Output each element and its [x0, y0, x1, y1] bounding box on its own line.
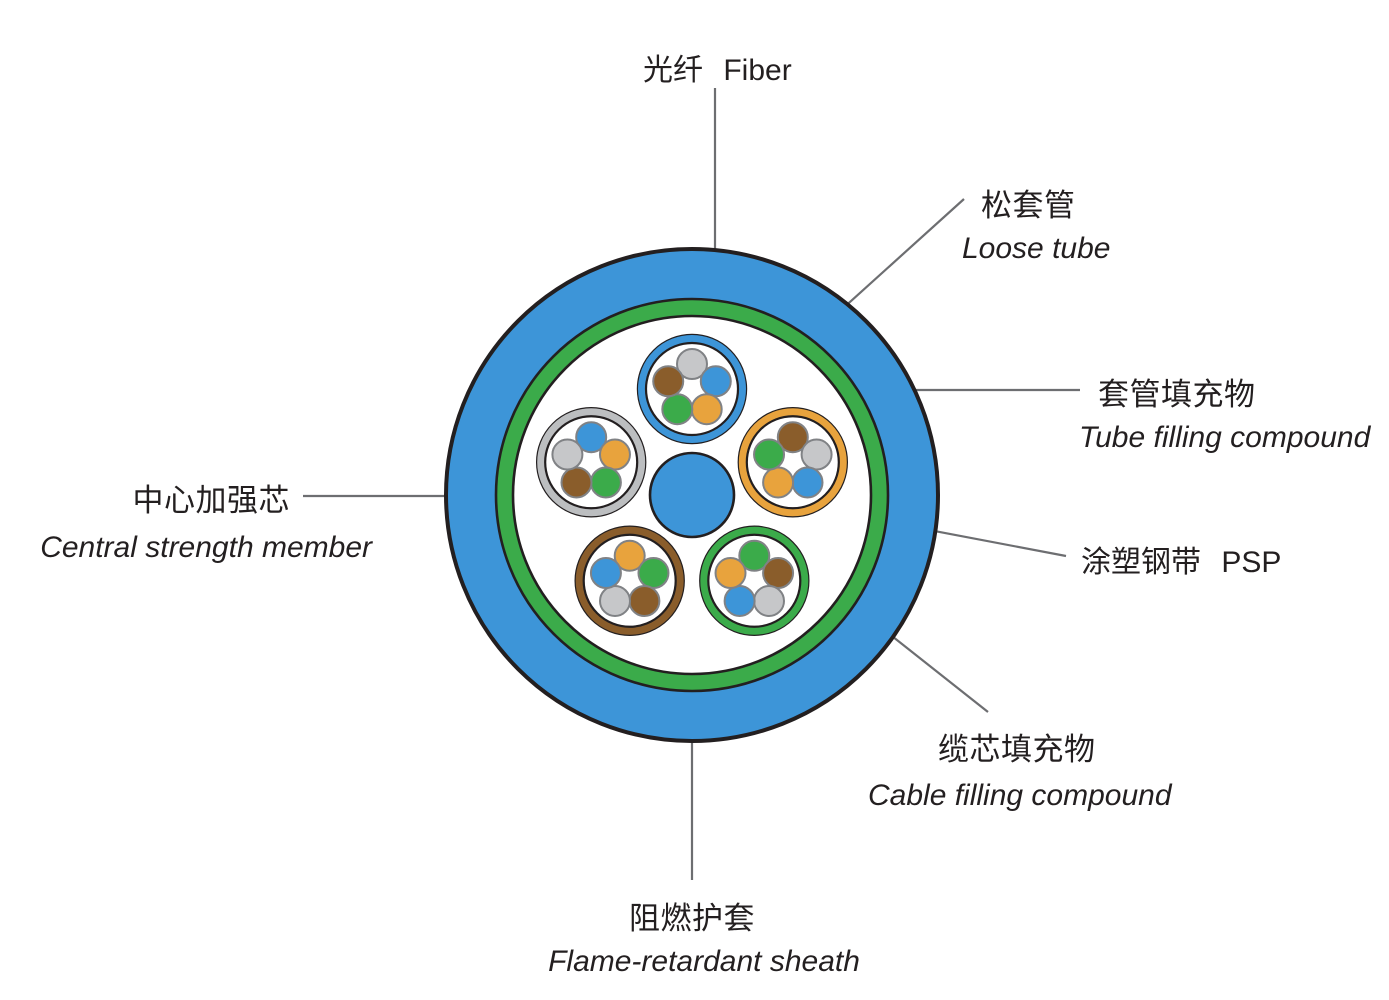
- label-loose-tube-cn: 松套管: [981, 188, 1076, 223]
- loose-tube-bottom-right-tube: [700, 527, 808, 635]
- fiber-2-3: [725, 586, 755, 616]
- fiber-4-2: [591, 467, 621, 497]
- fiber-0-1: [701, 366, 731, 396]
- label-fiber-en: Fiber: [723, 54, 791, 87]
- fiber-1-1: [802, 440, 832, 470]
- fiber-4-3: [561, 467, 591, 497]
- label-sheath: 阻燃护套 Flame-retardant sheath: [548, 901, 860, 978]
- fiber-1-3: [763, 467, 793, 497]
- fiber-2-2: [754, 586, 784, 616]
- fiber-1-4: [754, 440, 784, 470]
- loose-tube-top-tube: [638, 335, 746, 443]
- label-cable-filling-en: Cable filling compound: [868, 779, 1173, 812]
- svg-text:涂塑钢带 PSP: 涂塑钢带 PSP: [1081, 546, 1281, 579]
- label-cable-filling: 缆芯填充物 Cable filling compound: [868, 732, 1173, 812]
- label-psp: 涂塑钢带 PSP: [1081, 546, 1281, 579]
- loose-tube-bottom-left-tube: [576, 527, 684, 635]
- label-tube-filling-cn: 套管填充物: [1098, 377, 1256, 412]
- label-central-strength-en: Central strength member: [40, 531, 373, 564]
- fiber-0-4: [653, 366, 683, 396]
- loose-tube-left-tube: [537, 408, 645, 516]
- cable-body: [446, 249, 938, 741]
- fiber-4-1: [600, 440, 630, 470]
- label-central-strength-cn: 中心加强芯: [133, 483, 291, 518]
- cable-cross-section-diagram: 光纤 Fiber 松套管 Loose tube 套管填充物 Tube filli…: [0, 0, 1389, 1000]
- fiber-0-2: [692, 394, 722, 424]
- fiber-1-2: [793, 467, 823, 497]
- label-sheath-cn: 阻燃护套: [629, 901, 755, 936]
- label-sheath-en: Flame-retardant sheath: [548, 945, 860, 978]
- label-loose-tube: 松套管 Loose tube: [962, 188, 1110, 265]
- label-psp-en: PSP: [1221, 546, 1281, 579]
- svg-text:光纤 Fiber: 光纤 Fiber: [643, 54, 792, 87]
- label-fiber: 光纤 Fiber: [643, 54, 792, 87]
- label-tube-filling: 套管填充物 Tube filling compound: [1079, 377, 1372, 454]
- loose-tube-right-tube: [739, 408, 847, 516]
- fiber-0-3: [662, 394, 692, 424]
- fiber-3-4: [591, 558, 621, 588]
- fiber-3-1: [638, 558, 668, 588]
- label-fiber-cn: 光纤: [643, 54, 703, 87]
- cable-diagram-svg: 光纤 Fiber 松套管 Loose tube 套管填充物 Tube filli…: [0, 0, 1389, 1000]
- fiber-2-1: [763, 558, 793, 588]
- fiber-4-4: [552, 440, 582, 470]
- label-psp-cn: 涂塑钢带: [1081, 546, 1201, 579]
- label-loose-tube-en: Loose tube: [962, 232, 1110, 265]
- fiber-3-2: [629, 586, 659, 616]
- label-cable-filling-cn: 缆芯填充物: [938, 732, 1096, 767]
- central-strength-member: [650, 453, 734, 537]
- label-tube-filling-en: Tube filling compound: [1079, 421, 1372, 454]
- fiber-2-4: [716, 558, 746, 588]
- fiber-3-3: [600, 586, 630, 616]
